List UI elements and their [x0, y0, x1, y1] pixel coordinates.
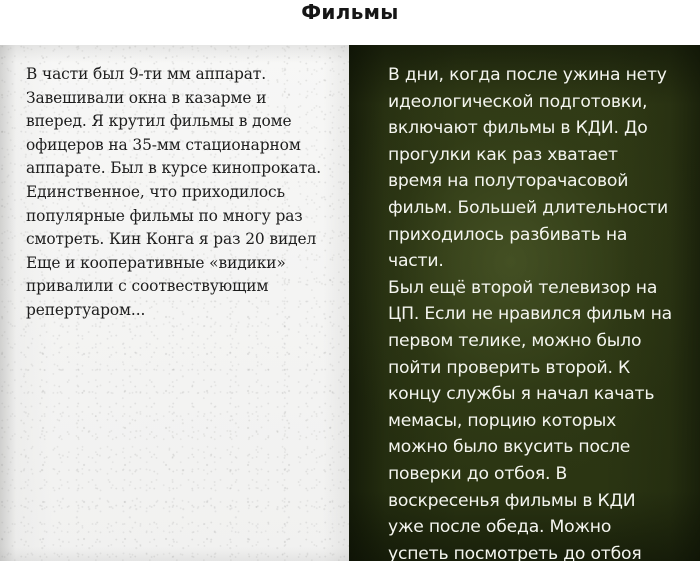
title-bar: Фильмы — [0, 0, 700, 45]
right-green-panel: В дни, когда после ужина нету идеологиче… — [349, 45, 700, 561]
left-panel-text: В части был 9-ти мм аппарат. Завешивали … — [26, 63, 326, 323]
page-title: Фильмы — [301, 1, 398, 23]
panel-row: В части был 9-ти мм аппарат. Завешивали … — [0, 45, 700, 561]
page-root: Фильмы В части был 9-ти мм аппарат. Заве… — [0, 0, 700, 575]
left-paper-panel: В части был 9-ти мм аппарат. Завешивали … — [0, 45, 349, 561]
right-panel-text: В дни, когда после ужина нету идеологиче… — [388, 62, 674, 561]
bottom-white-strip — [0, 561, 700, 575]
